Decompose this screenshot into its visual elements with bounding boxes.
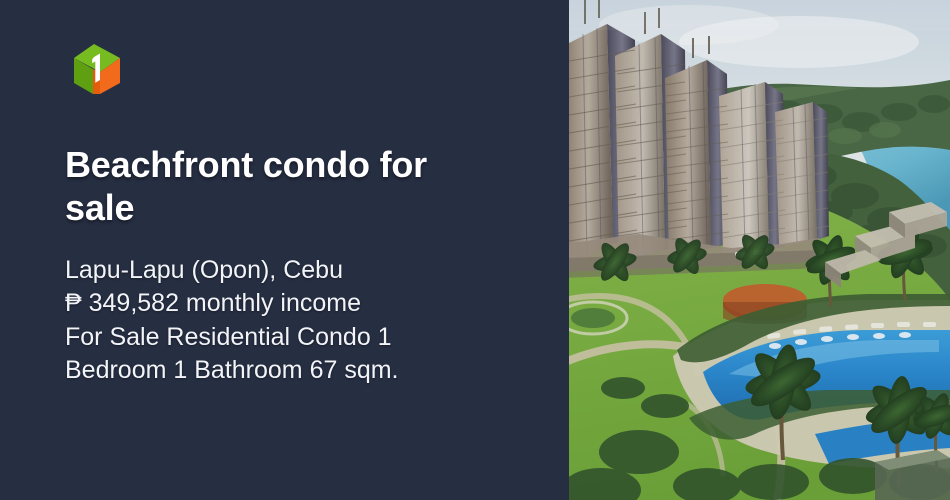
listing-photo xyxy=(569,0,950,500)
brand-logo[interactable] xyxy=(67,36,129,98)
listing-location: Lapu-Lapu (Opon), Cebu xyxy=(65,254,485,288)
info-panel: Beachfront condo for sale Lapu-Lapu (Opo… xyxy=(0,0,569,500)
listing-details: Lapu-Lapu (Opon), Cebu ₱ 349,582 monthly… xyxy=(65,254,485,388)
resort-aerial-image xyxy=(569,0,950,500)
house-logo-icon xyxy=(67,36,129,98)
listing-description: For Sale Residential Condo 1 Bedroom 1 B… xyxy=(65,321,485,388)
page-title: Beachfront condo for sale xyxy=(65,144,495,230)
listing-card: Beachfront condo for sale Lapu-Lapu (Opo… xyxy=(0,0,950,500)
listing-price: ₱ 349,582 monthly income xyxy=(65,287,485,321)
